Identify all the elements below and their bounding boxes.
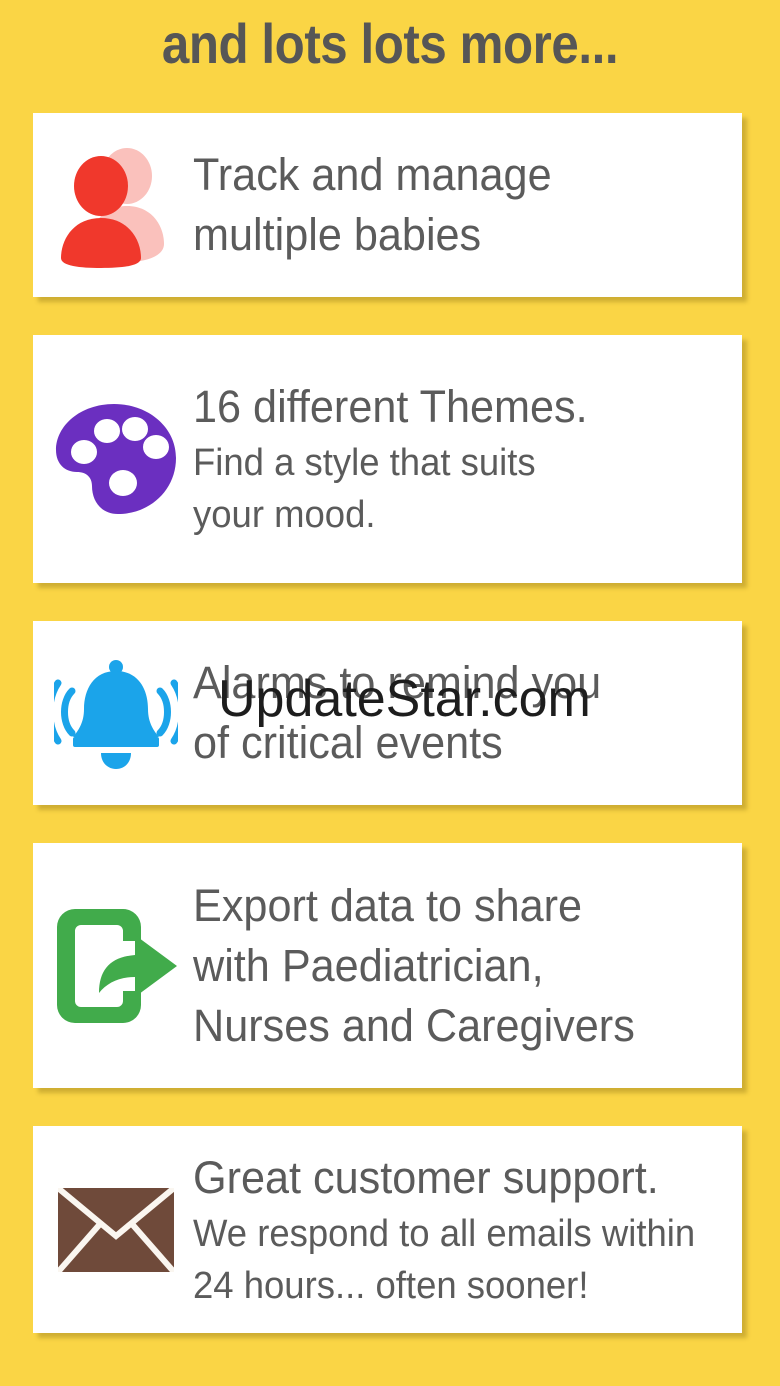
feature-card-support[interactable]: Great customer support. We respond to al… [33, 1126, 742, 1333]
feature-headline: Alarms to remind you of critical events [193, 653, 710, 773]
feature-card-themes[interactable]: 16 different Themes. Find a style that s… [33, 335, 742, 583]
page-title: and lots lots more... [47, 6, 733, 82]
feature-headline: Great customer support. [193, 1148, 710, 1208]
feature-card-text: Track and manage multiple babies [193, 145, 742, 265]
feature-card-export[interactable]: Export data to share with Paediatrician,… [33, 843, 742, 1088]
paint-palette-icon [33, 335, 193, 583]
envelope-icon [33, 1126, 193, 1333]
feature-card-track-babies[interactable]: Track and manage multiple babies [33, 113, 742, 297]
feature-card-text: Alarms to remind you of critical events [193, 653, 742, 773]
two-people-icon [33, 113, 193, 297]
feature-headline: 16 different Themes. [193, 377, 710, 437]
feature-card-text: Great customer support. We respond to al… [193, 1148, 742, 1312]
feature-card-alarms[interactable]: Alarms to remind you of critical events [33, 621, 742, 805]
feature-card-text: Export data to share with Paediatrician,… [193, 876, 742, 1056]
feature-list-page: and lots lots more... Track and manage m… [0, 0, 780, 1386]
feature-headline: Export data to share with Paediatrician,… [193, 876, 710, 1056]
feature-card-text: 16 different Themes. Find a style that s… [193, 377, 742, 541]
feature-card-list: Track and manage multiple babies 16 diff… [33, 113, 748, 1371]
feature-subline: We respond to all emails within 24 hours… [193, 1208, 710, 1312]
page-header: and lots lots more... [0, 6, 780, 82]
alarm-bell-icon [33, 621, 193, 805]
export-share-icon [33, 843, 193, 1088]
feature-subline: Find a style that suits your mood. [193, 437, 710, 541]
feature-headline: Track and manage multiple babies [193, 145, 710, 265]
